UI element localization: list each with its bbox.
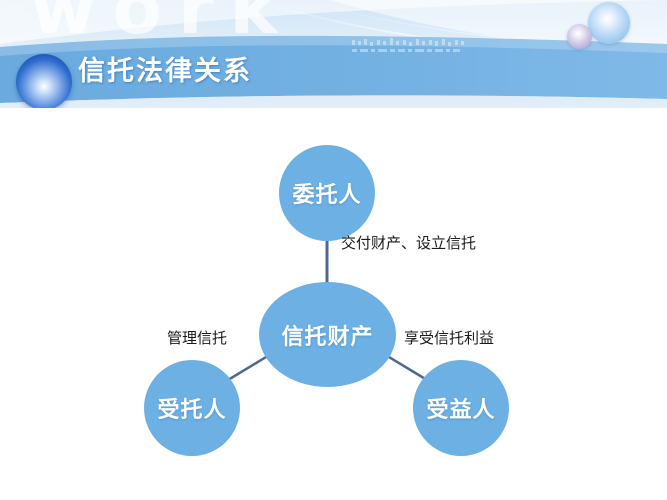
diagram-node-trustee-label: 受托人 (157, 392, 226, 424)
diagram-node-trustee[interactable]: 受托人 (144, 360, 240, 456)
edge-label-trustee-to-asset: 管理信托 (167, 327, 227, 348)
diagram-node-beneficiary-label: 受益人 (426, 392, 495, 424)
diagram-node-trust-asset[interactable]: 信托财产 (259, 282, 396, 387)
edge-label-asset-to-beneficiary: 享受信托利益 (404, 327, 494, 348)
diagram-node-settlor-label: 委托人 (292, 177, 361, 209)
blue-sphere-bullet-icon (16, 54, 72, 108)
slide-canvas: work 信托法律关系 委托人 信托财产 受托人 受益人 (0, 0, 667, 500)
diagram-node-beneficiary[interactable]: 受益人 (413, 360, 509, 456)
trust-relationship-diagram: 委托人 信托财产 受托人 受益人 交付财产、设立信托 管理信托 享受信托利益 (0, 108, 667, 500)
decorative-bubble-small-icon (567, 24, 592, 49)
diagram-node-trust-asset-label: 信托财产 (281, 319, 373, 351)
diagram-node-settlor[interactable]: 委托人 (279, 145, 375, 241)
decorative-bubble-large-icon (588, 2, 630, 44)
edge-label-settlor-to-asset: 交付财产、设立信托 (341, 232, 476, 253)
page-title: 信托法律关系 (78, 49, 252, 88)
slide-header: work 信托法律关系 (0, 0, 667, 108)
